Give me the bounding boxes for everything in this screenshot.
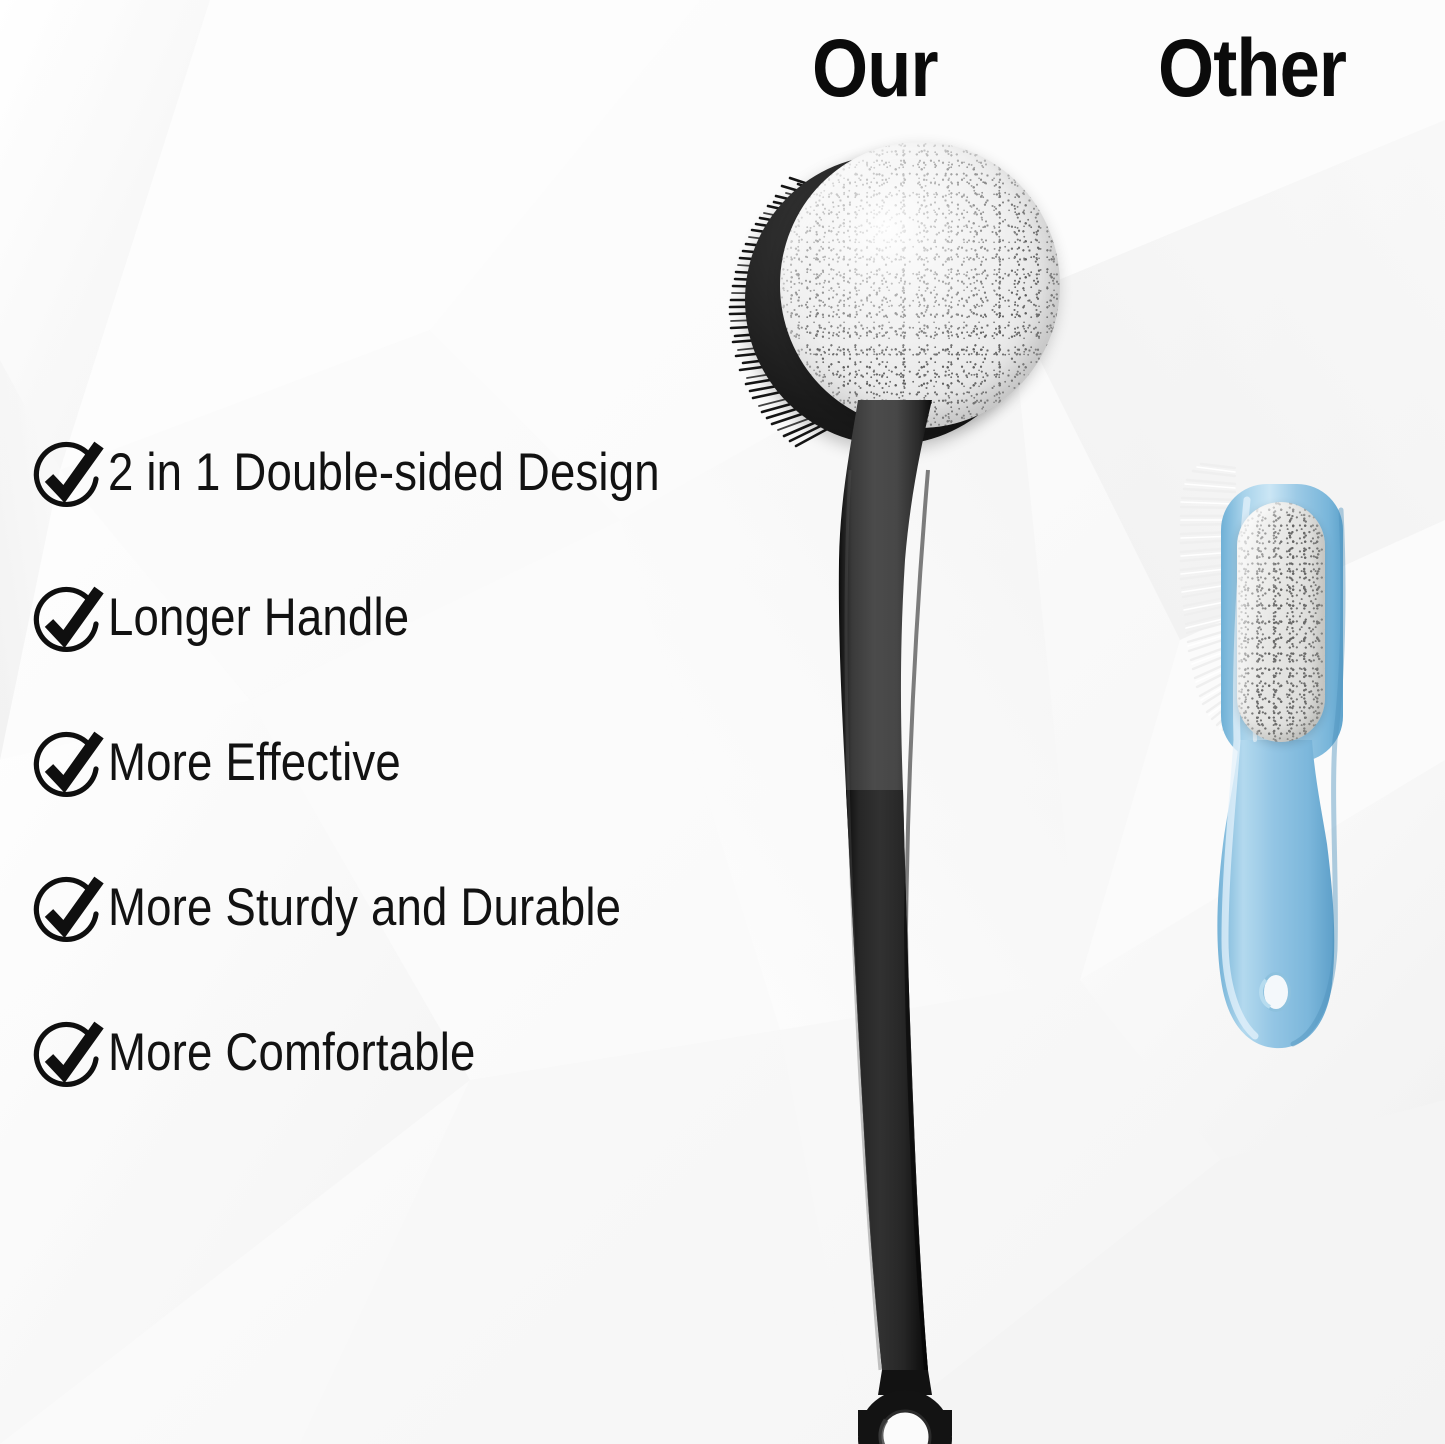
check-circle-icon — [30, 729, 106, 805]
check-circle-icon — [30, 584, 106, 660]
feature-label: Longer Handle — [108, 587, 409, 649]
check-circle-icon — [30, 1019, 106, 1095]
other-brush — [1175, 440, 1395, 1090]
our-brush-handle — [700, 410, 1100, 1430]
feature-label: More Sturdy and Durable — [108, 877, 621, 939]
feature-label: More Effective — [108, 732, 401, 794]
check-circle-icon — [30, 874, 106, 950]
column-header-ours: Our — [812, 28, 938, 110]
check-circle-icon — [30, 439, 106, 515]
other-brush-pumice-pad — [1237, 502, 1325, 742]
comparison-infographic: Our Other 2 in 1 Double-sided Design Lon… — [0, 0, 1445, 1444]
column-header-other: Other — [1158, 28, 1346, 110]
feature-label: 2 in 1 Double-sided Design — [108, 442, 660, 504]
our-brush — [700, 120, 1100, 1430]
our-brush-pumice-stone — [780, 142, 1060, 428]
feature-label: More Comfortable — [108, 1022, 476, 1084]
